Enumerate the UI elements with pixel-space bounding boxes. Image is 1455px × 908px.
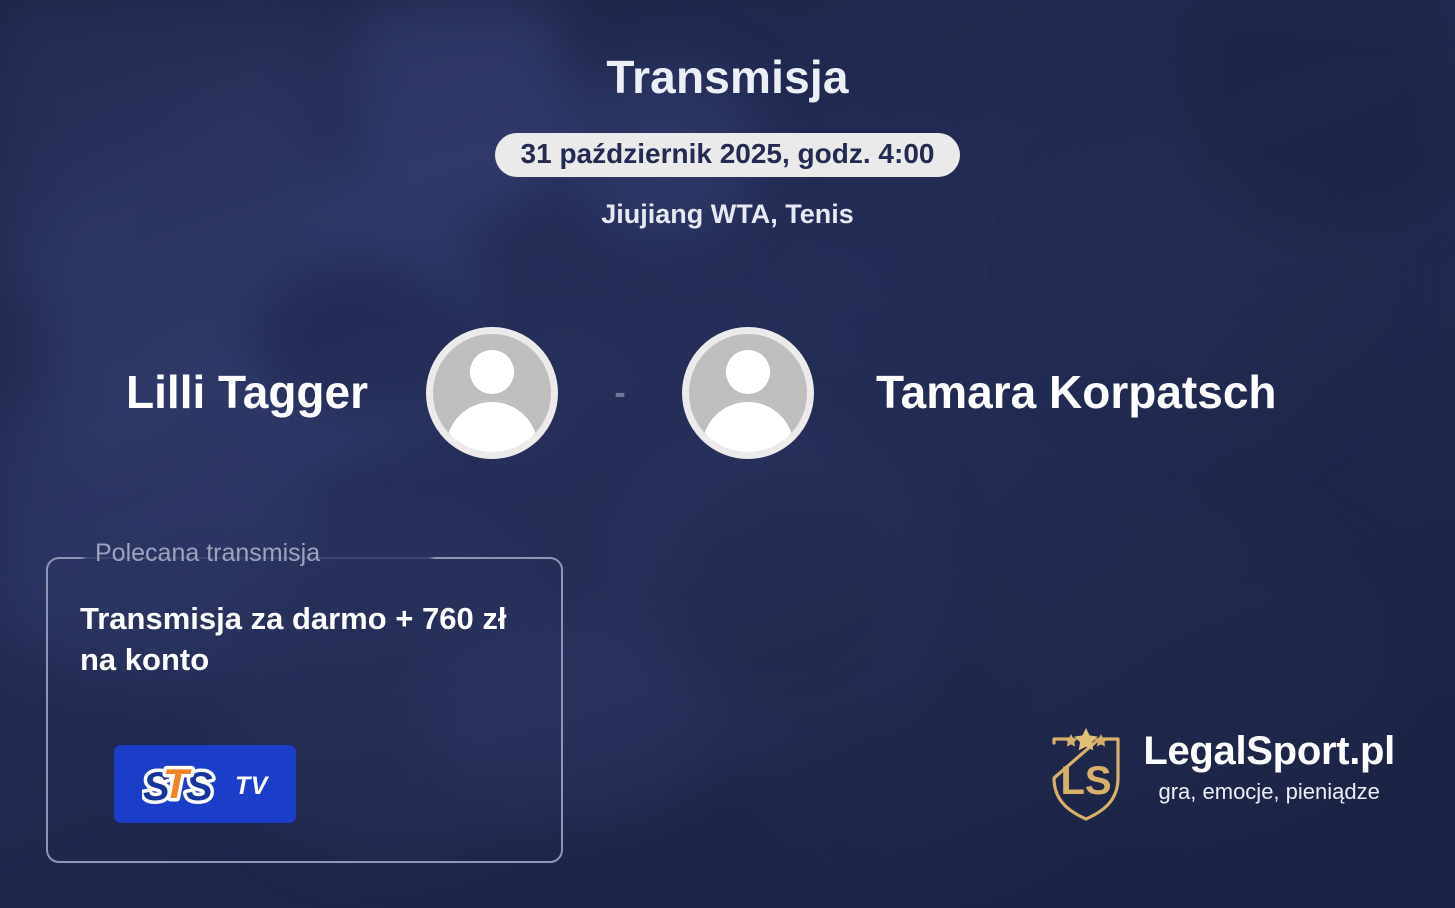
legalsport-brand-logo: LS LegalSport.pl gra, emocje, pieniądze — [1049, 726, 1395, 822]
svg-text:S: S — [186, 765, 213, 806]
match-row: Lilli Tagger - Tamara Korpatsch — [0, 318, 1455, 468]
sts-tv-logo-button[interactable]: S S S S T T TV — [114, 745, 296, 823]
avatar-head-shape — [726, 350, 770, 394]
player-left-name: Lilli Tagger — [0, 367, 368, 419]
recommended-broadcast-legend: Polecana transmisja — [84, 541, 331, 566]
recommended-broadcast-panel: Polecana transmisja Transmisja za darmo … — [46, 557, 563, 863]
person-placeholder-icon — [682, 327, 814, 459]
sts-tv-suffix-label: TV — [235, 772, 268, 801]
svg-text:T: T — [163, 762, 192, 806]
sts-logo-icon: S S S S T T — [142, 762, 226, 806]
legalsport-shield-icon: LS — [1049, 726, 1123, 822]
player-right-name: Tamara Korpatsch — [876, 367, 1316, 419]
score-separator: - — [589, 376, 651, 410]
avatar-head-shape — [470, 350, 514, 394]
event-datetime-badge: 31 październik 2025, godz. 4:00 — [495, 133, 961, 177]
brand-tagline: gra, emocje, pieniądze — [1143, 781, 1395, 803]
event-competition-label: Jiujiang WTA, Tenis — [0, 199, 1455, 230]
brand-name: LegalSport.pl — [1143, 730, 1395, 772]
person-placeholder-icon — [426, 327, 558, 459]
broadcast-promo-graphic: Transmisja 31 październik 2025, godz. 4:… — [0, 0, 1455, 908]
promo-offer-title: Transmisja za darmo + 760 zł na konto — [80, 599, 520, 681]
svg-text:LS: LS — [1061, 759, 1112, 803]
avatar-body-shape — [446, 402, 538, 459]
page-title: Transmisja — [0, 54, 1455, 100]
brand-text-block: LegalSport.pl gra, emocje, pieniądze — [1143, 726, 1395, 803]
avatar-body-shape — [702, 402, 794, 459]
header: Transmisja 31 październik 2025, godz. 4:… — [0, 0, 1455, 230]
